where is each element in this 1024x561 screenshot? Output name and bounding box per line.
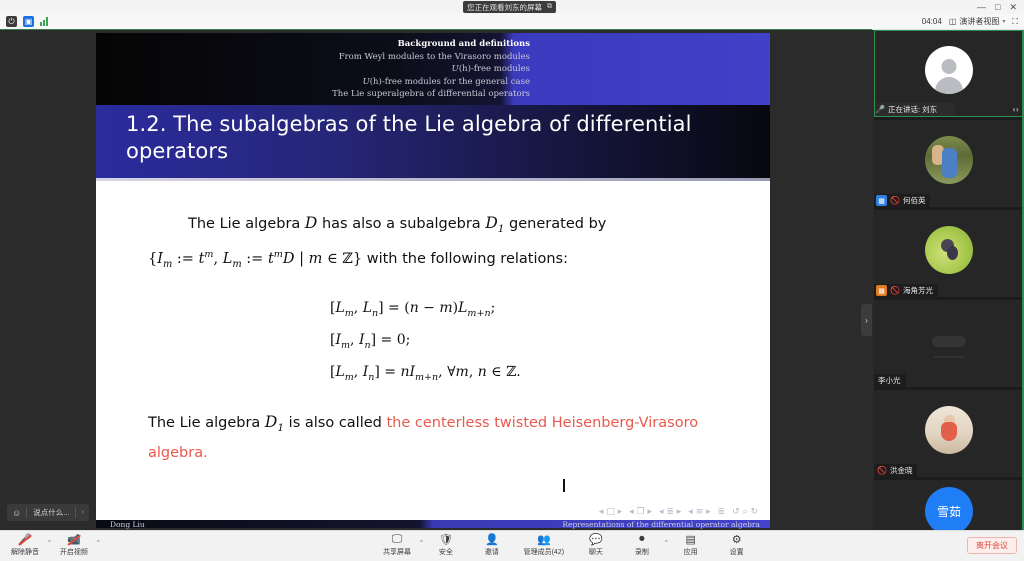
- mic-off-icon: 🚫: [890, 196, 900, 205]
- beamer-nav-outline: Background and definitions From Weyl mod…: [332, 38, 530, 101]
- mic-off-icon: 🎤: [18, 533, 32, 546]
- video-options-caret-icon[interactable]: ^: [97, 540, 100, 551]
- invite-label: 邀请: [485, 547, 499, 557]
- nav-subsection-group[interactable]: ◂ ❐ ▸: [629, 507, 652, 517]
- participant-name-bar: 🚫 洪金晓: [874, 464, 917, 477]
- chat-button[interactable]: 💬 聊天: [573, 533, 619, 557]
- chat-label: 聊天: [589, 547, 603, 557]
- beamer-header: Background and definitions From Weyl mod…: [96, 33, 770, 105]
- speaking-indicator-icon: ◖◗: [1011, 105, 1019, 114]
- participant-name: 海角芳光: [903, 285, 933, 296]
- maximize-button[interactable]: □: [995, 3, 1000, 12]
- mic-icon: 🎤: [875, 105, 885, 114]
- chevron-left-icon[interactable]: ‹: [76, 509, 88, 516]
- share-screen-button[interactable]: 🖵 共享屏幕: [374, 533, 420, 557]
- floating-chat-bar[interactable]: ☺ 说点什么... ‹: [7, 504, 89, 521]
- meeting-window: — □ ✕ 您正在观看刘东的屏幕 ⧉ ⏻ ▣ 04:04 ◫ 演讲者视图 ▾ ⛶: [0, 0, 1024, 561]
- toolbar-center-group: 🖵 共享屏幕 ^ 🛡 安全 👤 邀请 👥 管理成员(42) 💬 聊天 ⏺: [374, 533, 760, 557]
- placeholder-line: [934, 356, 964, 358]
- fullscreen-icon[interactable]: ⛶: [1012, 17, 1018, 27]
- tray-bar: ⏻ ▣ 04:04 ◫ 演讲者视图 ▾ ⛶: [0, 14, 1024, 30]
- start-video-label: 开启视频: [60, 547, 88, 557]
- lock-icon: ⏻: [6, 16, 17, 27]
- participant-name-bar: 🎤 正在讲话: 刘东: [875, 103, 955, 116]
- meeting-toolbar: 🎤 解除静音 ^ 📹 开启视频 ^ 🖵 共享屏幕 ^ 🛡 安全 👤 邀请: [0, 530, 1024, 561]
- presentation-slide: Background and definitions From Weyl mod…: [96, 33, 770, 528]
- slide-body: The Lie algebra D has also a subalgebra …: [96, 181, 770, 528]
- beamer-footer-bar: Dong Liu Representations of the differen…: [96, 520, 770, 528]
- settings-label: 设置: [730, 547, 744, 557]
- apps-icon: ▤: [685, 533, 695, 546]
- mic-off-icon: 🚫: [874, 466, 887, 475]
- share-screen-icon: 🖵: [392, 533, 403, 546]
- footer-title: Representations of the differential oper…: [562, 520, 760, 529]
- zoom-icon[interactable]: ▣: [23, 16, 34, 27]
- viewing-screen-label: 您正在观看刘东的屏幕: [467, 2, 542, 13]
- chevron-down-icon: ▾: [1002, 18, 1005, 25]
- text-cursor: [563, 479, 565, 492]
- apps-label: 应用: [684, 547, 698, 557]
- host-badge-icon: ▦: [876, 195, 887, 206]
- participant-tile-2[interactable]: ▦ 🚫 海角芳光: [874, 210, 1024, 297]
- manage-participants-label: 管理成员(42): [524, 547, 564, 557]
- chat-icon: 💬: [589, 533, 603, 546]
- record-button[interactable]: ⏺ 录制: [619, 533, 665, 557]
- cohost-badge-icon: ▦: [876, 285, 887, 296]
- nav-presentation-group[interactable]: ◂ ≡ ▸: [688, 507, 710, 517]
- nav-back-search-forward[interactable]: ↺ ⌕ ↻: [732, 507, 758, 517]
- beamer-navigation-symbols[interactable]: ◂ □ ▸ ◂ ❐ ▸ ◂ ≣ ▸ ◂ ≡ ▸ ≣ ↺ ⌕ ↻: [599, 507, 758, 517]
- video-off-icon: 📹: [67, 533, 81, 546]
- participant-tile-1[interactable]: ▦ 🚫 何佰英: [874, 120, 1024, 207]
- signal-icon: [40, 16, 51, 27]
- record-label: 录制: [635, 547, 649, 557]
- emoji-icon[interactable]: ☺: [7, 508, 26, 518]
- security-label: 安全: [439, 547, 453, 557]
- meeting-timer: 04:04: [922, 17, 942, 26]
- participant-name-bar: ▦ 🚫 海角芳光: [874, 284, 938, 297]
- security-button[interactable]: 🛡 安全: [423, 533, 469, 557]
- participant-name: 洪金晓: [890, 465, 913, 476]
- outline-item-0[interactable]: Background and definitions: [332, 38, 530, 51]
- window-controls: — □ ✕: [977, 3, 1024, 12]
- shared-screen-stage: Background and definitions From Weyl mod…: [0, 30, 872, 530]
- equation-1: [Im, In] = 0;: [330, 327, 742, 359]
- outline-item-2[interactable]: U(h)-free modules: [332, 63, 530, 76]
- equation-0: [Lm, Ln] = (n − m)Lm+n;: [330, 295, 742, 327]
- avatar: [925, 406, 973, 454]
- viewing-screen-pill: 您正在观看刘东的屏幕 ⧉: [463, 1, 556, 13]
- invite-icon: 👤: [485, 533, 499, 546]
- view-mode-label: 演讲者视图: [959, 16, 999, 27]
- slide-paragraph-2: The Lie algebra D1 is also called the ce…: [148, 410, 742, 466]
- participant-tile-3[interactable]: 李小光: [874, 300, 1024, 387]
- settings-button[interactable]: ⚙ 设置: [714, 533, 760, 557]
- invite-button[interactable]: 👤 邀请: [469, 533, 515, 557]
- record-icon: ⏺: [639, 533, 645, 546]
- participant-name: 李小光: [874, 375, 901, 386]
- participant-name-bar: 李小光: [874, 374, 906, 387]
- shield-icon: 🛡: [439, 533, 453, 546]
- nav-frame-group[interactable]: ◂ □ ▸: [599, 507, 622, 517]
- avatar: [925, 136, 973, 184]
- toolbar-left-group: 🎤 解除静音 ^ 📹 开启视频 ^: [2, 533, 100, 557]
- participant-name: 何佰英: [903, 195, 926, 206]
- manage-participants-button[interactable]: 👥 管理成员(42): [515, 533, 573, 557]
- unmute-label: 解除静音: [11, 547, 39, 557]
- apps-button[interactable]: ▤ 应用: [668, 533, 714, 557]
- nav-section-group[interactable]: ◂ ≣ ▸: [659, 507, 681, 517]
- placeholder-shape: [932, 336, 966, 347]
- highlighted-term: the centerless twisted Heisenberg-Viraso…: [148, 415, 698, 461]
- participant-tile-0[interactable]: 🎤 正在讲话: 刘东 ◖◗: [874, 30, 1024, 117]
- equation-2: [Lm, In] = nIm+n, ∀m, n ∈ ℤ.: [330, 359, 742, 391]
- avatar: [925, 226, 973, 274]
- outline-item-4[interactable]: The Lie superalgebra of differential ope…: [332, 88, 530, 101]
- collapse-icon[interactable]: ⧉: [547, 3, 552, 11]
- footer-author: Dong Liu: [110, 520, 145, 529]
- slide-paragraph-1: The Lie algebra D has also a subalgebra …: [148, 211, 742, 277]
- layout-icon: ◫: [949, 17, 957, 26]
- mic-off-icon: 🚫: [890, 286, 900, 295]
- participants-icon: 👥: [537, 533, 551, 546]
- slide-title: 1.2. The subalgebras of the Lie algebra …: [96, 105, 770, 178]
- participant-filmstrip[interactable]: 🎤 正在讲话: 刘东 ◖◗ ▦ 🚫 何佰英 ▦ 🚫 海角芳光: [874, 30, 1024, 530]
- avatar: [925, 46, 973, 94]
- nav-appendix-icon[interactable]: ≣: [718, 507, 726, 517]
- outline-item-3[interactable]: U(h)-free modules for the general case: [332, 76, 530, 89]
- unmute-button[interactable]: 🎤 解除静音: [2, 533, 48, 557]
- share-screen-label: 共享屏幕: [383, 547, 411, 557]
- leave-meeting-button[interactable]: 离开会议: [967, 537, 1017, 554]
- gear-icon: ⚙: [732, 533, 742, 546]
- minimize-button[interactable]: —: [977, 3, 986, 12]
- chat-input[interactable]: 说点什么...: [27, 507, 75, 518]
- participant-name-bar: ▦ 🚫 何佰英: [874, 194, 930, 207]
- view-mode-selector[interactable]: ◫ 演讲者视图 ▾: [949, 16, 1006, 27]
- panel-collapse-handle[interactable]: ›: [861, 304, 872, 336]
- close-button[interactable]: ✕: [1009, 3, 1017, 12]
- slide-equations: [Lm, Ln] = (n − m)Lm+n; [Im, In] = 0; [L…: [148, 295, 742, 392]
- participant-name: 正在讲话: 刘东: [888, 104, 937, 115]
- outline-item-1[interactable]: From Weyl modules to the Virasoro module…: [332, 51, 530, 64]
- start-video-button[interactable]: 📹 开启视频: [51, 533, 97, 557]
- participant-tile-4[interactable]: 🚫 洪金晓: [874, 390, 1024, 477]
